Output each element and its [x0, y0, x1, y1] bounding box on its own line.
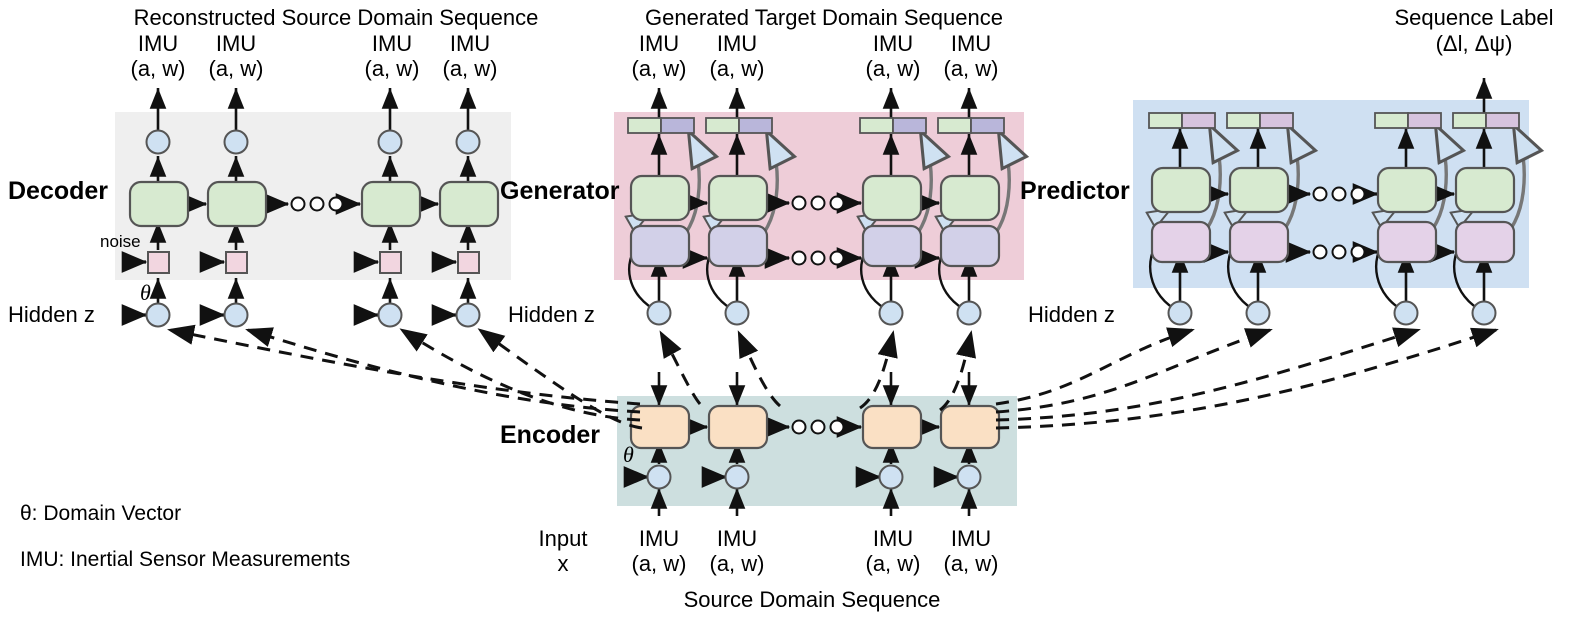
encoder-col-3-axes: (a, w) — [944, 552, 999, 575]
generator-col-3-imu: IMU — [951, 32, 991, 55]
decoder-theta-label: θ — [140, 281, 151, 304]
encoder-col-3-imu: IMU — [951, 527, 991, 550]
generator-col-2-imu: IMU — [873, 32, 913, 55]
decoder-col-3-imu: IMU — [450, 32, 490, 55]
decoder-col-1-axes: (a, w) — [209, 57, 264, 80]
encoder-caption: Source Domain Sequence — [684, 588, 941, 611]
encoder-col-2-axes: (a, w) — [866, 552, 921, 575]
figure-canvas: Reconstructed Source Domain Sequence IMU… — [0, 0, 1578, 623]
decoder-header: Reconstructed Source Domain Sequence — [134, 6, 539, 29]
decoder-col-2-axes: (a, w) — [365, 57, 420, 80]
encoder-col-1-axes: (a, w) — [710, 552, 765, 575]
encoder-input-label-line1: Input — [539, 527, 588, 550]
decoder-hidden-nodes — [147, 304, 480, 327]
decoder-hidden-z-label: Hidden z — [8, 303, 95, 326]
encoder-col-0-imu: IMU — [639, 527, 679, 550]
generator-col-0-imu: IMU — [639, 32, 679, 55]
encoder-input-label-line2: x — [558, 552, 569, 575]
diagram-svg — [0, 0, 1578, 623]
decoder-col-2-imu: IMU — [372, 32, 412, 55]
encoder-theta-label: θ — [623, 443, 634, 466]
generator-col-1-axes: (a, w) — [710, 57, 765, 80]
generator-hidden-z-label: Hidden z — [508, 303, 595, 326]
generator-col-2-axes: (a, w) — [866, 57, 921, 80]
predictor-hidden-nodes — [1169, 302, 1496, 325]
generator-col-0-axes: (a, w) — [632, 57, 687, 80]
generator-col-1-imu: IMU — [717, 32, 757, 55]
predictor-module-label: Predictor — [1020, 178, 1130, 204]
predictor-hidden-z-label: Hidden z — [1028, 303, 1115, 326]
encoder-module-label: Encoder — [500, 422, 600, 448]
encoder-col-2-imu: IMU — [873, 527, 913, 550]
generator-header: Generated Target Domain Sequence — [645, 6, 1003, 29]
generator-hidden-nodes — [648, 302, 981, 325]
encoder-col-0-axes: (a, w) — [632, 552, 687, 575]
decoder-col-1-imu: IMU — [216, 32, 256, 55]
decoder-noise-label: noise — [100, 233, 141, 251]
legend-line-domain-vector: θ: Domain Vector — [20, 503, 181, 525]
generator-col-3-axes: (a, w) — [944, 57, 999, 80]
decoder-module-label: Decoder — [8, 178, 108, 204]
legend-line-imu: IMU: Inertial Sensor Measurements — [20, 549, 350, 571]
encoder-col-1-imu: IMU — [717, 527, 757, 550]
predictor-header: Sequence Label — [1394, 6, 1553, 29]
decoder-col-3-axes: (a, w) — [443, 57, 498, 80]
predictor-header-sub: (Δl, Δψ) — [1436, 32, 1513, 55]
decoder-col-0-axes: (a, w) — [131, 57, 186, 80]
decoder-col-0-imu: IMU — [138, 32, 178, 55]
generator-module-label: Generator — [500, 178, 619, 204]
